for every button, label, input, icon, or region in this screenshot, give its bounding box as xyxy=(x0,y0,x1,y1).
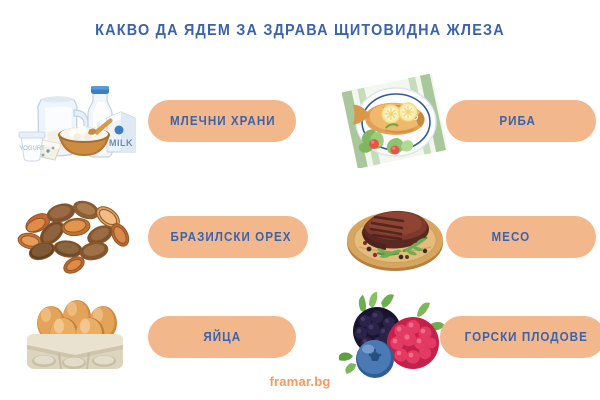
food-item-fish: РИБА xyxy=(322,70,600,170)
page-title: КАКВО ДА ЯДЕМ ЗА ЗДРАВА ЩИТОВИДНА ЖЛЕЗА xyxy=(21,22,579,40)
brazil-nuts-illustration xyxy=(12,186,142,286)
food-row-3: ЯЙЦА xyxy=(0,286,600,386)
egg-carton-illustration xyxy=(12,286,142,386)
label-text-eggs: ЯЙЦА xyxy=(203,330,241,344)
label-pill-dairy[interactable]: МЛЕЧНИ ХРАНИ xyxy=(148,100,296,142)
food-item-eggs: ЯЙЦА xyxy=(12,286,302,386)
food-row-1: MILK xyxy=(0,70,600,170)
food-row-2: БРАЗИЛСКИ ОРЕХ xyxy=(0,186,600,286)
label-pill-brazil-nuts[interactable]: БРАЗИЛСКИ ОРЕХ xyxy=(148,216,308,258)
label-text-brazil-nuts: БРАЗИЛСКИ ОРЕХ xyxy=(171,230,292,244)
svg-text:YOGURT: YOGURT xyxy=(19,146,45,152)
label-pill-fish[interactable]: РИБА xyxy=(446,100,596,142)
label-text-meat: МЕСО xyxy=(491,230,530,244)
food-item-dairy: MILK xyxy=(12,70,302,170)
dairy-products-illustration: MILK xyxy=(12,70,142,170)
label-pill-eggs[interactable]: ЯЙЦА xyxy=(148,316,296,358)
label-text-berries: ГОРСКИ ПЛОДОВЕ xyxy=(465,330,588,344)
label-text-dairy: МЛЕЧНИ ХРАНИ xyxy=(170,114,276,128)
infographic-page: КАКВО ДА ЯДЕМ ЗА ЗДРАВА ЩИТОВИДНА ЖЛЕЗА xyxy=(0,0,600,400)
label-text-fish: РИБА xyxy=(499,114,536,128)
label-pill-meat[interactable]: МЕСО xyxy=(446,216,596,258)
steak-board-illustration xyxy=(330,186,460,286)
fish-plate-illustration xyxy=(330,70,460,170)
food-item-brazil-nuts: БРАЗИЛСКИ ОРЕХ xyxy=(12,186,302,286)
footer-watermark: framar.bg xyxy=(0,374,600,389)
food-item-meat: МЕСО xyxy=(322,186,600,286)
label-pill-berries[interactable]: ГОРСКИ ПЛОДОВЕ xyxy=(440,316,600,358)
svg-text:MILK: MILK xyxy=(109,138,133,148)
food-item-berries: ГОРСКИ ПЛОДОВЕ xyxy=(322,286,600,386)
